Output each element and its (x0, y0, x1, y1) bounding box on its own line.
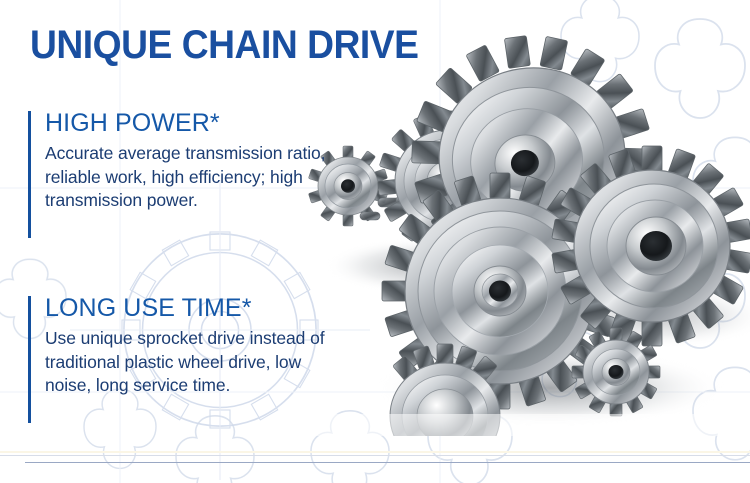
feature-heading: LONG USE TIME* (45, 293, 378, 323)
feature-block-long-use-time: LONG USE TIME* Use unique sprocket drive… (28, 293, 378, 398)
feature-heading: HIGH POWER* (45, 108, 378, 138)
feature-description: Accurate average transmission ratio, rel… (45, 142, 345, 213)
text-column: UNIQUE CHAIN DRIVE HIGH POWER* Accurate … (0, 0, 400, 483)
feature-body: HIGH POWER* Accurate average transmissio… (45, 108, 378, 213)
feature-body: LONG USE TIME* Use unique sprocket drive… (45, 293, 378, 398)
accent-bar (28, 111, 31, 238)
product-feature-banner: UNIQUE CHAIN DRIVE HIGH POWER* Accurate … (0, 0, 750, 483)
divider-light (0, 455, 750, 456)
divider-warm (0, 451, 750, 453)
accent-bar (28, 296, 31, 423)
divider-bottom (25, 462, 750, 463)
page-title: UNIQUE CHAIN DRIVE (30, 22, 467, 68)
feature-block-high-power: HIGH POWER* Accurate average transmissio… (28, 108, 378, 213)
feature-description: Use unique sprocket drive instead of tra… (45, 327, 345, 398)
